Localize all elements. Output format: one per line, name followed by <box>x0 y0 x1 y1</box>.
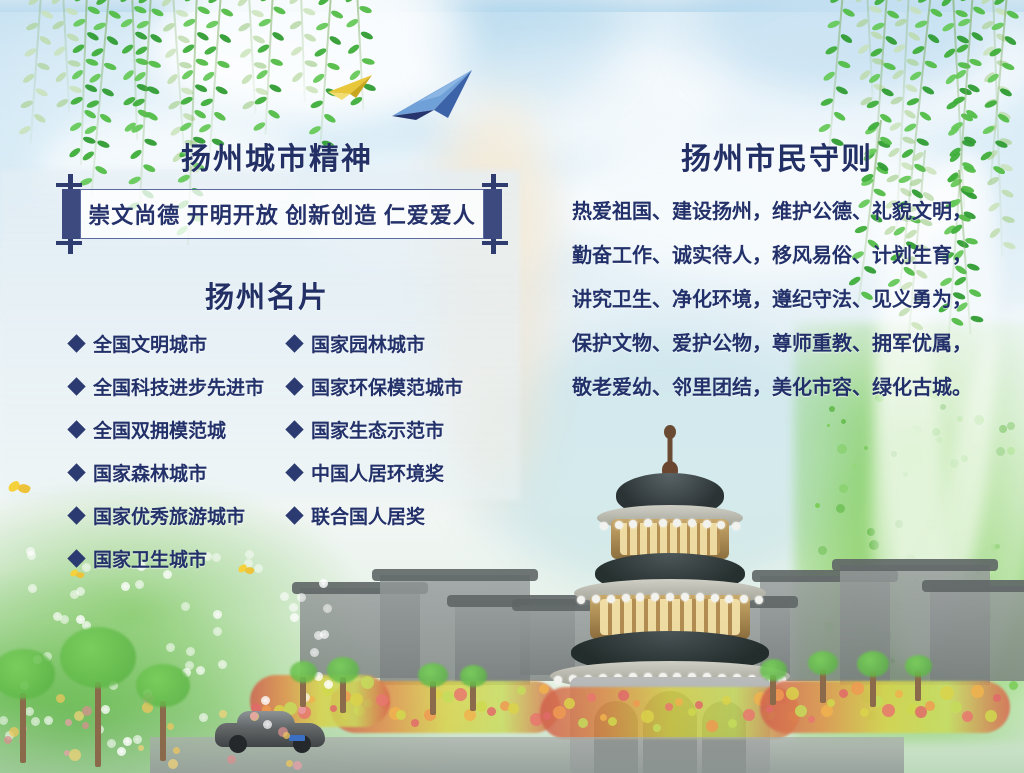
eave-pearl <box>725 595 733 603</box>
card-item: 全国文明城市 <box>70 322 264 365</box>
meadow-flower <box>9 727 19 737</box>
meadow-flower <box>173 747 180 754</box>
flower-cluster <box>633 700 640 707</box>
white-flower-icon <box>137 582 142 587</box>
tree-crown <box>460 665 487 687</box>
eave-pearl <box>554 676 562 684</box>
pearl-row <box>600 519 740 527</box>
white-flower-icon <box>168 645 173 650</box>
eave-pearl <box>592 595 600 603</box>
white-flower-icon <box>265 722 270 727</box>
meadow-flower <box>82 722 89 729</box>
building-roof <box>832 559 998 571</box>
card-label: 国家森林城市 <box>93 459 207 486</box>
white-flower-icon <box>321 581 326 586</box>
flower-cluster <box>827 699 835 707</box>
white-flower-icon <box>220 662 225 667</box>
flower-cluster <box>600 714 607 721</box>
white-flower-icon <box>282 594 287 599</box>
diamond-bullet-icon <box>67 334 85 352</box>
white-flower-icon <box>30 586 35 591</box>
card-label: 中国人居环境奖 <box>311 459 444 486</box>
flower-cluster <box>766 706 773 713</box>
flower-cluster <box>564 698 575 709</box>
flower-cluster <box>587 693 596 702</box>
eave-pearl <box>607 595 615 603</box>
foliage-dot <box>837 444 847 454</box>
foliage-dot <box>841 419 846 424</box>
tree-crown <box>808 651 839 675</box>
pearl-row <box>577 593 763 601</box>
card-label: 全国双拥模范城 <box>93 416 226 443</box>
citizen-code-line: 勤奋工作、诚实待人，移风易俗、计划生育， <box>572 234 982 278</box>
diamond-bullet-icon <box>67 420 85 438</box>
tree-crown <box>327 657 359 683</box>
paper-airplane-yellow-icon <box>326 72 376 106</box>
flower-cluster <box>665 703 673 711</box>
white-flower-icon <box>198 668 203 673</box>
card-item: 国家园林城市 <box>288 322 463 365</box>
eave-pearl <box>577 596 585 604</box>
tree-crown <box>136 664 190 707</box>
white-flower-icon <box>78 617 83 622</box>
flower-cluster <box>688 708 696 716</box>
flower-cluster <box>539 684 549 694</box>
eave-pearl <box>644 519 652 527</box>
card-item: 国家优秀旅游城市 <box>70 494 264 537</box>
white-flower-icon <box>215 629 220 634</box>
tree-trunk <box>20 693 26 763</box>
white-flower-icon <box>322 632 327 637</box>
meadow-flower <box>227 755 236 764</box>
white-flower-icon <box>299 595 304 600</box>
citizen-code-line: 保护文物、爱护公物，尊师重教、拥军优属， <box>572 322 982 366</box>
white-flower-icon <box>123 584 128 589</box>
car-illustration <box>215 713 325 755</box>
meadow-flower <box>65 719 72 726</box>
foliage-dot <box>827 424 830 427</box>
flower-cluster <box>411 719 419 727</box>
banner-bracket-right <box>484 183 502 245</box>
flower-cluster <box>376 694 388 706</box>
eave-pearl <box>711 594 719 602</box>
tree-crown <box>60 627 137 688</box>
foliage-dot <box>815 503 820 508</box>
eave-pearl <box>681 593 689 601</box>
meadow-flower <box>168 759 178 769</box>
white-flower-icon <box>135 737 140 742</box>
building-roof <box>922 580 1024 592</box>
card-item: 全国科技进步先进市 <box>70 365 264 408</box>
card-label: 国家生态示范市 <box>311 416 444 443</box>
flower-cluster <box>808 716 815 723</box>
white-flower-icon <box>62 617 67 622</box>
diamond-bullet-icon <box>67 377 85 395</box>
flower-cluster <box>786 687 799 700</box>
card-label: 联合国人居奖 <box>311 502 425 529</box>
diamond-bullet-icon <box>285 334 303 352</box>
flower-cluster <box>728 719 737 728</box>
eave-pearl <box>732 522 740 530</box>
motto-banner: 崇文尚德 开明开放 创新创造 仁爱爱人 <box>62 183 502 245</box>
flower-cluster <box>396 710 406 720</box>
card-label: 国家优秀旅游城市 <box>93 502 245 529</box>
eave-pearl <box>703 520 711 528</box>
motto-box: 崇文尚德 开明开放 创新创造 仁爱爱人 <box>80 189 484 239</box>
card-label: 国家环保模范城市 <box>311 373 463 400</box>
diamond-bullet-icon <box>285 420 303 438</box>
flower-cluster <box>695 701 703 709</box>
poster-root: 扬州城市精神 崇文尚德 开明开放 创新创造 仁爱爱人 扬州名片 全国文明城市全国… <box>0 0 1024 773</box>
eave-pearl <box>696 593 704 601</box>
tree-crown <box>760 659 787 681</box>
paper-airplane-blue-icon <box>388 66 478 122</box>
white-flower-icon <box>78 589 83 594</box>
white-flower-icon <box>215 612 220 617</box>
cards-column-1: 全国文明城市全国科技进步先进市全国双拥模范城国家森林城市国家优秀旅游城市国家卫生… <box>70 322 264 580</box>
flower-cluster <box>442 691 454 703</box>
card-label: 国家卫生城市 <box>93 545 207 572</box>
eave-pearl <box>622 594 630 602</box>
flower-cluster <box>706 720 718 732</box>
card-item: 国家森林城市 <box>70 451 264 494</box>
card-item: 全国双拥模范城 <box>70 408 264 451</box>
citizen-code-line: 敬老爱幼、邻里团结，美化市容、绿化古城。 <box>572 366 982 410</box>
eave-pearl <box>629 520 637 528</box>
white-flower-icon <box>291 605 296 610</box>
eave-pearl <box>666 593 674 601</box>
card-item: 国家环保模范城市 <box>288 365 463 408</box>
eave-pearl <box>651 593 659 601</box>
flower-cluster <box>476 701 487 712</box>
citizen-code-line: 热爱祖国、建设扬州，维护公德、礼貌文明， <box>572 190 982 234</box>
eave-pearl <box>659 519 667 527</box>
tree-crown <box>290 661 317 683</box>
flower-cluster <box>743 709 755 721</box>
flower-cluster <box>993 694 1001 702</box>
white-flower-icon <box>119 749 124 754</box>
white-flower-icon <box>55 614 60 619</box>
motto-text: 崇文尚德 开明开放 创新创造 仁爱爱人 <box>88 198 476 230</box>
flower-cluster <box>940 686 954 700</box>
meadow-flower <box>138 745 144 751</box>
building-roof <box>372 569 538 581</box>
white-flower-icon <box>312 650 317 655</box>
white-flower-icon <box>103 707 108 712</box>
flower-cluster <box>962 711 973 722</box>
meadow-flower <box>82 706 92 716</box>
card-item: 联合国人居奖 <box>288 494 463 537</box>
white-flower-icon <box>109 741 114 746</box>
card-label: 全国文明城市 <box>93 330 207 357</box>
spirit-title: 扬州城市精神 <box>181 134 373 178</box>
foliage-dot <box>839 484 848 493</box>
code-title: 扬州市民守则 <box>681 134 873 178</box>
foliage-dot <box>852 464 857 469</box>
tree-trunk <box>160 701 166 761</box>
flower-cluster <box>330 705 337 712</box>
flower-cluster <box>454 688 467 701</box>
meadow-flower <box>250 712 258 720</box>
white-flower-icon <box>201 715 206 720</box>
foliage-dot <box>836 504 845 513</box>
eave-pearl <box>755 596 763 604</box>
card-label: 全国科技进步先进市 <box>93 373 264 400</box>
meadow-flower <box>286 760 293 767</box>
white-flower-icon <box>292 615 297 620</box>
flower-cluster <box>608 717 617 726</box>
card-label: 国家园林城市 <box>311 330 425 357</box>
flower-cluster <box>653 724 661 732</box>
meadow-flower <box>293 761 302 770</box>
card-item: 国家生态示范市 <box>288 408 463 451</box>
flower-cluster <box>361 676 374 689</box>
flower-cluster <box>578 718 588 728</box>
diamond-bullet-icon <box>285 463 303 481</box>
eave-pearl <box>636 593 644 601</box>
flower-cluster <box>860 708 869 717</box>
eave-pearl <box>615 521 623 529</box>
eave-pearl <box>688 519 696 527</box>
foliage-dot <box>818 546 827 555</box>
tree-crown <box>857 651 889 677</box>
card-item: 国家卫生城市 <box>70 537 264 580</box>
foliage-dot <box>864 446 868 450</box>
white-flower-icon <box>187 663 192 668</box>
white-flower-icon <box>183 604 188 609</box>
flower-cluster <box>895 690 903 698</box>
white-flower-icon <box>325 606 330 611</box>
diamond-bullet-icon <box>67 549 85 567</box>
diamond-bullet-icon <box>67 506 85 524</box>
eave-pearl <box>673 519 681 527</box>
eave-pearl <box>600 522 608 530</box>
citizen-code-line: 讲究卫生、净化环境，遵纪守法、见义勇为， <box>572 278 982 322</box>
traditional-building <box>930 586 1024 681</box>
cards-column-2: 国家园林城市国家环保模范城市国家生态示范市中国人居环境奖联合国人居奖 <box>288 322 463 537</box>
tree-crown <box>905 655 932 677</box>
flower-cluster <box>675 698 683 706</box>
diamond-bullet-icon <box>285 377 303 395</box>
banner-bracket-left <box>62 183 80 245</box>
tree-trunk <box>95 682 101 767</box>
tree-crown <box>418 663 449 687</box>
citizen-code-lines: 热爱祖国、建设扬州，维护公德、礼貌文明，勤奋工作、诚实待人，移风易俗、计划生育，… <box>572 190 982 410</box>
flower-cluster <box>722 696 731 705</box>
diamond-bullet-icon <box>285 506 303 524</box>
card-item: 中国人居环境奖 <box>288 451 463 494</box>
diamond-bullet-icon <box>67 463 85 481</box>
cards-title: 扬州名片 <box>205 274 329 316</box>
